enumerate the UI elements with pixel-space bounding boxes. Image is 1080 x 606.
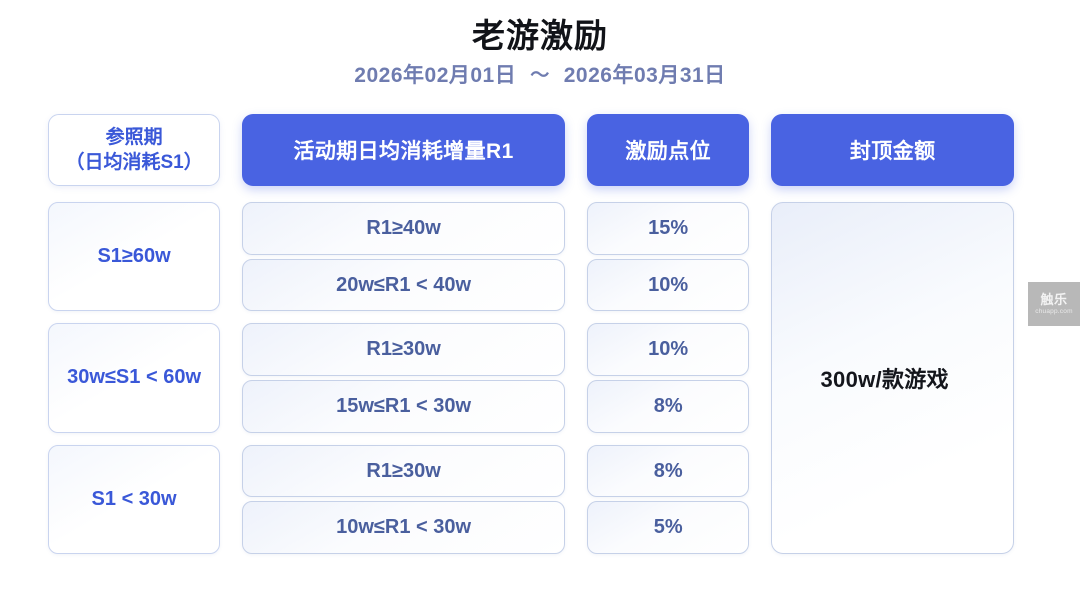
column-reference-period: 参照期 （日均消耗S1） S1≥60w 30w≤S1 < 60w S1 < 30… [48, 114, 220, 554]
header-gap [587, 186, 749, 202]
header-gap [242, 186, 565, 202]
date-separator-icon: ～ [530, 63, 550, 89]
column-incentive-rate: 激励点位 15% 10% 10% 8% 8% 5% [587, 114, 749, 554]
r1-cell: R1≥40w [242, 202, 565, 255]
date-start: 2026年02月01日 [354, 63, 516, 89]
column-cap-amount: 封顶金额 300w/款游戏 [771, 114, 1014, 554]
column-header-reference-period: 参照期 （日均消耗S1） [48, 114, 220, 186]
watermark-name: 触乐 [1040, 293, 1067, 307]
group-gap [48, 433, 220, 445]
group-gap [242, 433, 565, 445]
r1-cell: 10w≤R1 < 30w [242, 501, 565, 554]
reference-cell: S1≥60w [48, 202, 220, 311]
rate-cell: 5% [587, 501, 749, 554]
page-title: 老游激励 [0, 16, 1080, 56]
r1-cell: R1≥30w [242, 323, 565, 376]
reference-label-line1: 参照期 [106, 127, 163, 148]
rate-cell: 15% [587, 202, 749, 255]
incentive-table: 参照期 （日均消耗S1） S1≥60w 30w≤S1 < 60w S1 < 30… [48, 114, 1014, 554]
date-range: 2026年02月01日 ～ 2026年03月31日 [0, 63, 1080, 89]
header-gap [48, 186, 220, 202]
group-gap [242, 311, 565, 323]
poster-root: 老游激励 2026年02月01日 ～ 2026年03月31日 参照期 （日均消耗… [0, 0, 1080, 606]
group-gap [587, 311, 749, 323]
column-header-cap-amount: 封顶金额 [771, 114, 1014, 186]
title-block: 老游激励 2026年02月01日 ～ 2026年03月31日 [0, 16, 1080, 89]
column-header-r1-increment: 活动期日均消耗增量R1 [242, 114, 565, 186]
reference-cell: 30w≤S1 < 60w [48, 323, 220, 432]
watermark: 触乐 chuapp.com [1028, 282, 1080, 326]
column-r1-increment: 活动期日均消耗增量R1 R1≥40w 20w≤R1 < 40w R1≥30w 1… [242, 114, 565, 554]
date-end: 2026年03月31日 [564, 63, 726, 89]
cap-amount-text: 300w/款游戏 [821, 362, 949, 394]
r1-cell: 15w≤R1 < 30w [242, 380, 565, 433]
reference-cell: S1 < 30w [48, 445, 220, 554]
rate-cell: 8% [587, 445, 749, 498]
rate-cell: 8% [587, 380, 749, 433]
header-gap [771, 186, 1014, 202]
rate-cell: 10% [587, 323, 749, 376]
group-gap [48, 311, 220, 323]
group-gap [587, 433, 749, 445]
watermark-url: chuapp.com [1035, 308, 1072, 316]
reference-label-line2: （日均消耗S1） [65, 152, 202, 173]
r1-cell: R1≥30w [242, 445, 565, 498]
cap-amount-cell: 300w/款游戏 [771, 202, 1014, 554]
column-header-reference-period-text: 参照期 （日均消耗S1） [65, 125, 202, 175]
rate-cell: 10% [587, 259, 749, 312]
r1-cell: 20w≤R1 < 40w [242, 259, 565, 312]
column-header-incentive-rate: 激励点位 [587, 114, 749, 186]
